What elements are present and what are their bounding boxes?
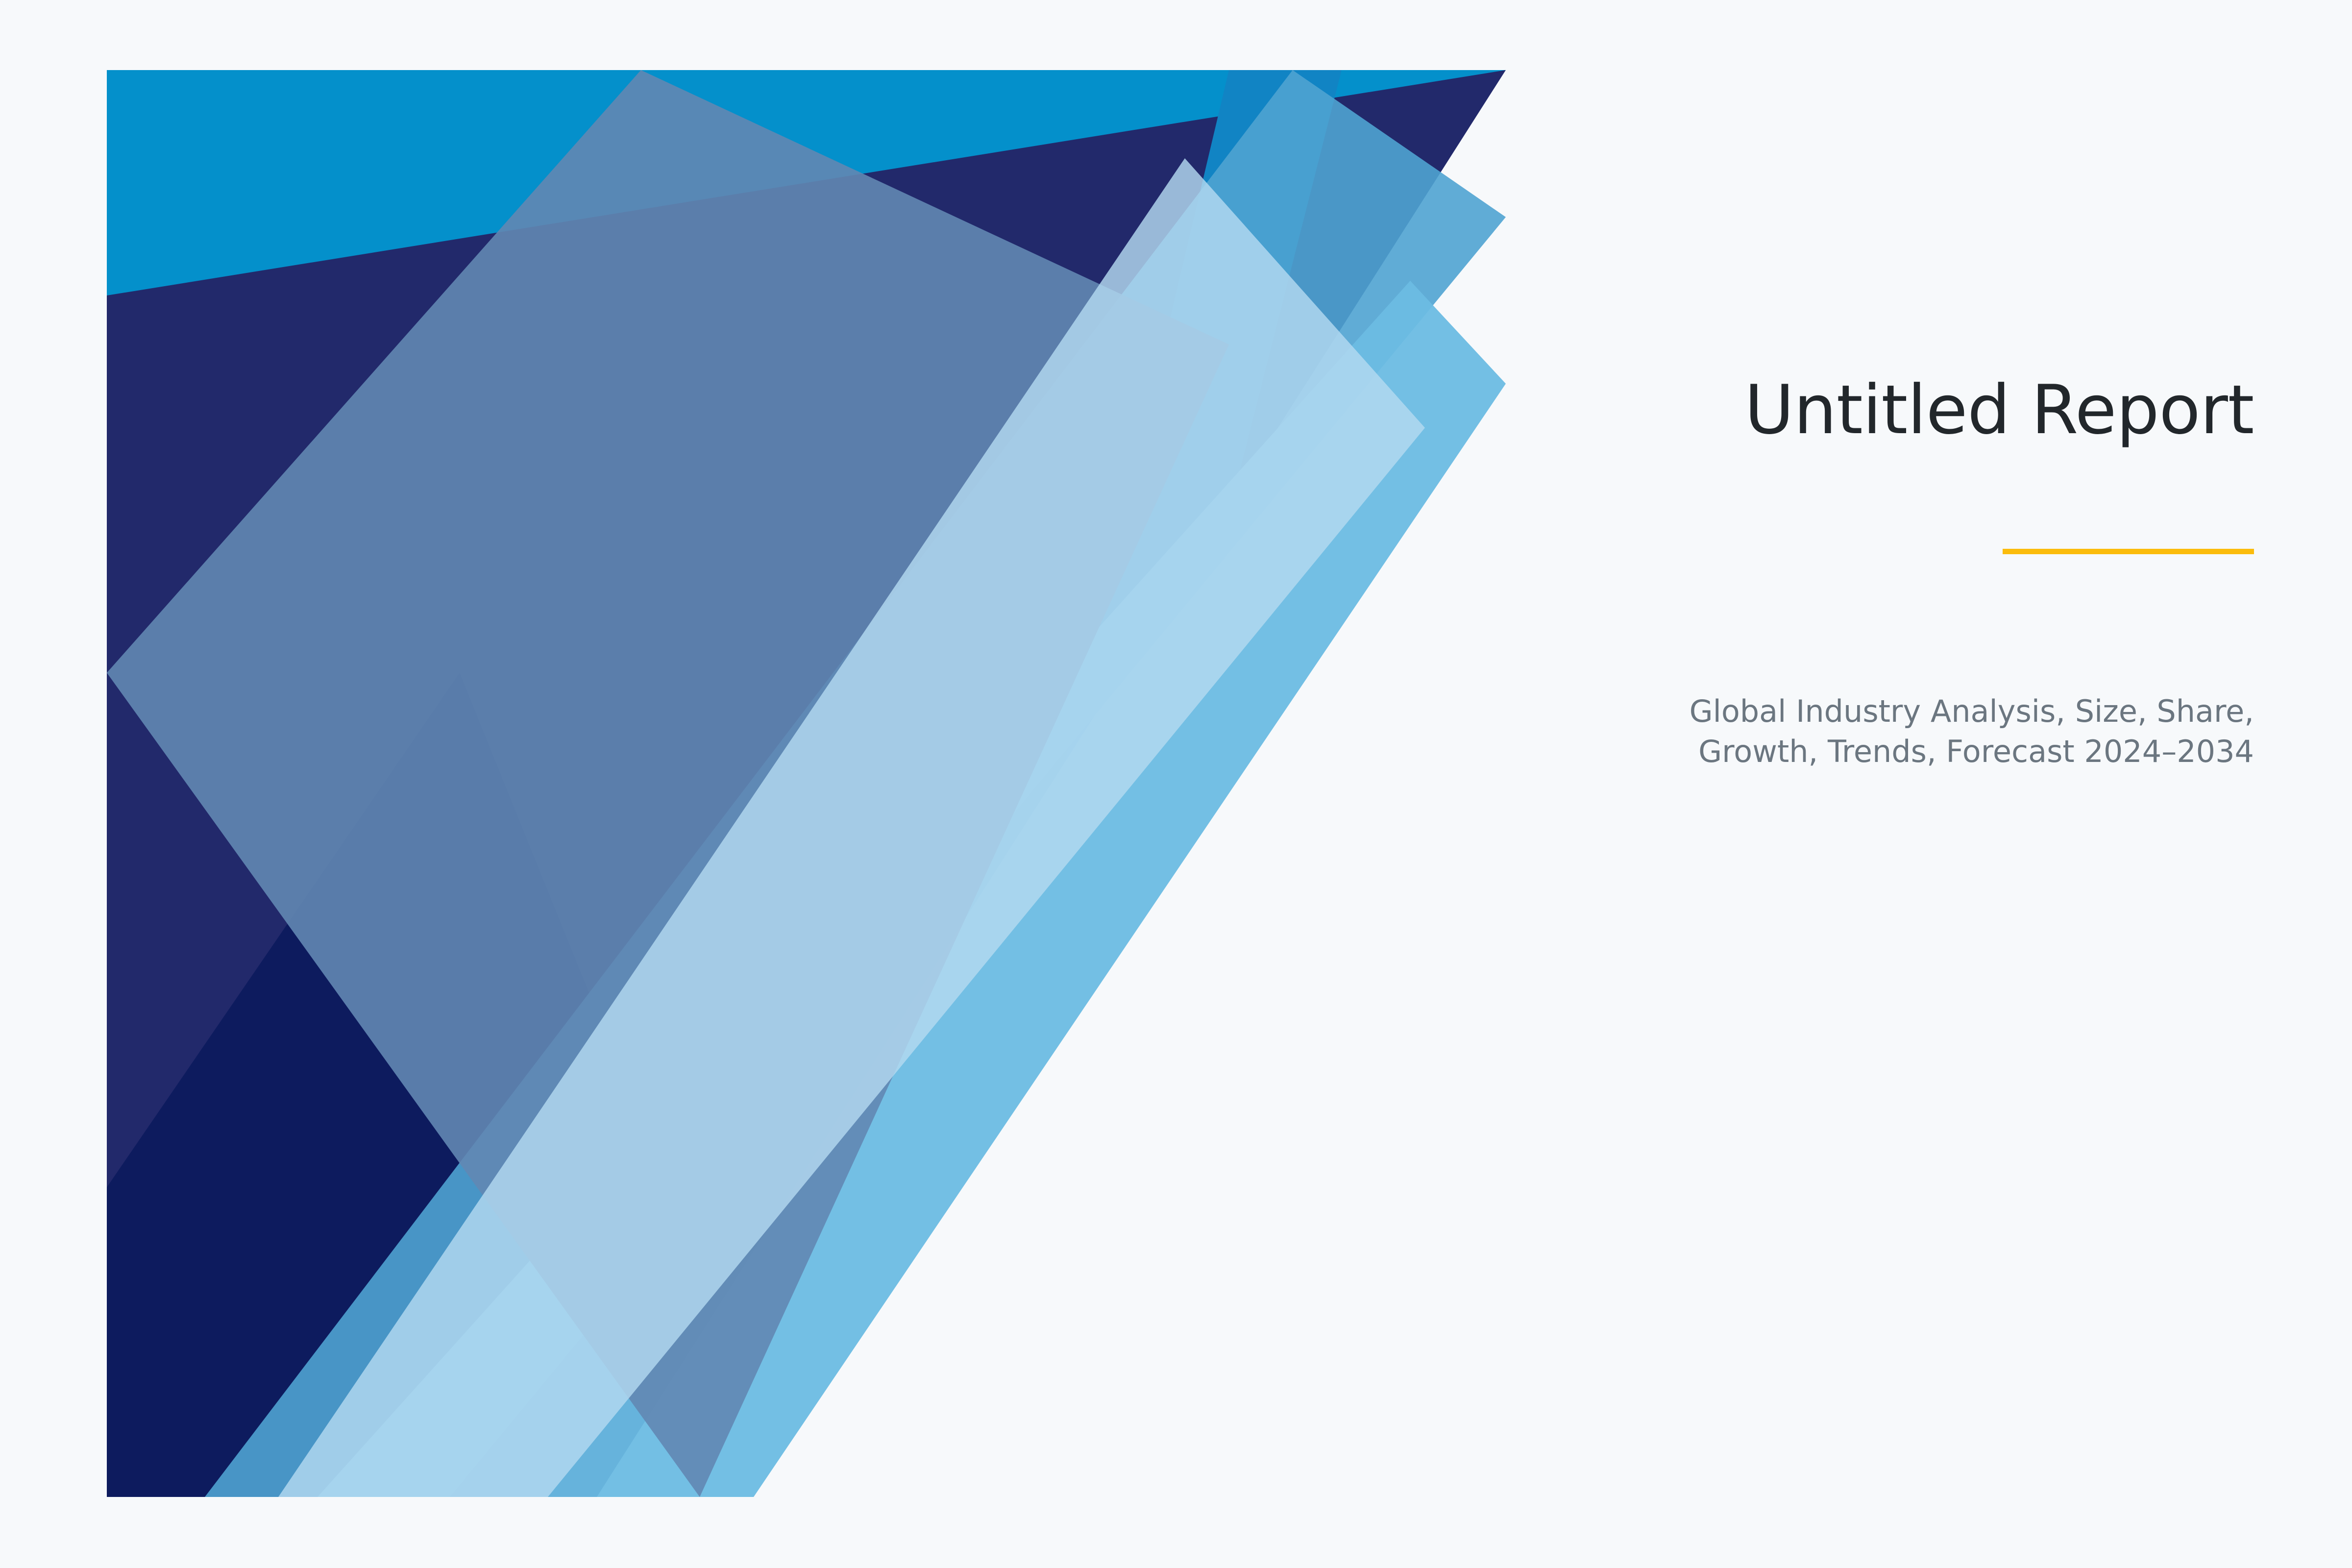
title-accent-rule [2003, 549, 2254, 554]
cover-artwork [107, 70, 1506, 1497]
report-subtitle: Global Industry Analysis, Size, Share, G… [1588, 691, 2254, 772]
cover-page: Untitled Report Global Industry Analysis… [0, 0, 2352, 1568]
cover-text-block: Untitled Report Global Industry Analysis… [1588, 372, 2254, 772]
page-title: Untitled Report [1588, 372, 2254, 448]
report-subtitle-line-1: Global Industry Analysis, Size, Share, [1588, 691, 2254, 732]
abstract-geometric-graphic [107, 70, 1506, 1497]
report-subtitle-line-2: Growth, Trends, Forecast 2024–2034 [1588, 732, 2254, 772]
